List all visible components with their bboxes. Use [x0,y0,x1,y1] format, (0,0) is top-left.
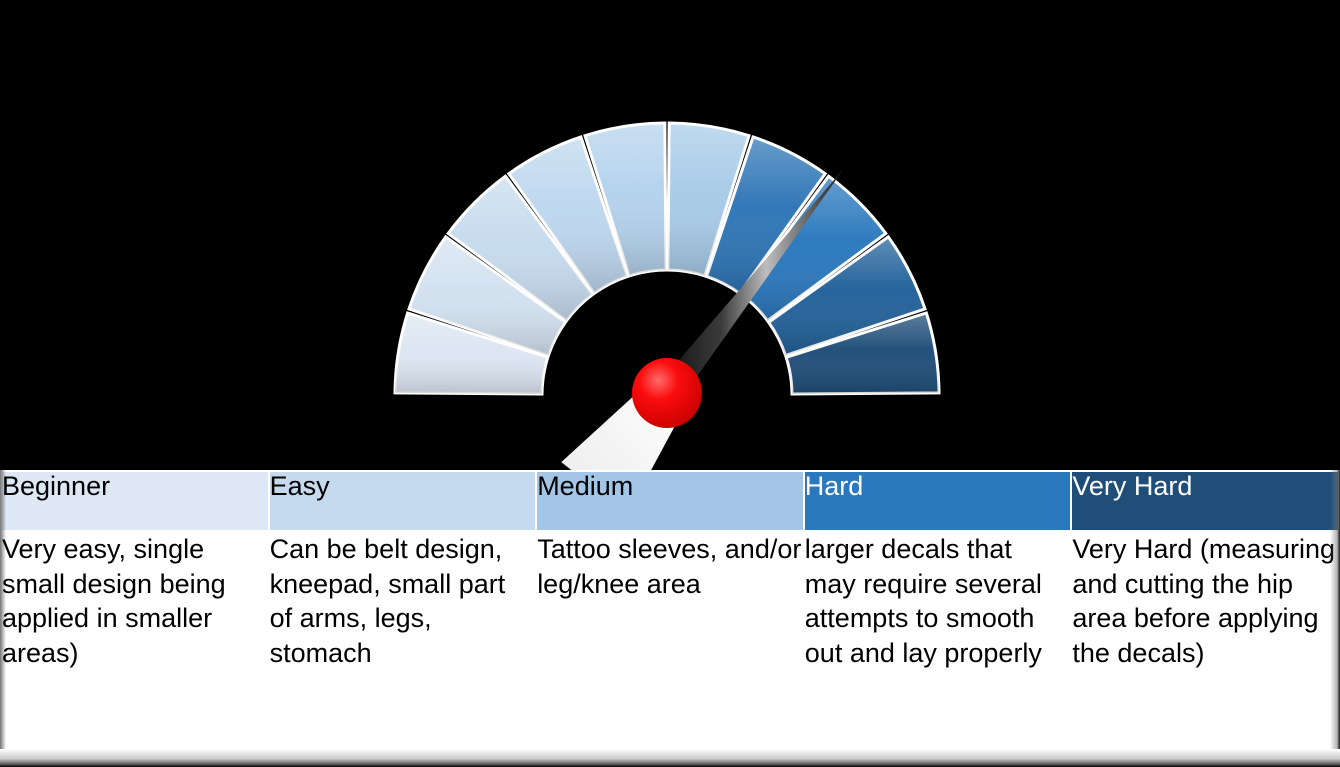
header-cell-beginner[interactable]: Beginner [1,471,269,531]
header-cell-very-hard[interactable]: Very Hard [1071,471,1339,531]
gauge-arc-segments [395,123,939,394]
cell-beginner-description[interactable]: Very easy, single small design being app… [1,531,269,766]
difficulty-gauge [0,0,1340,475]
cell-very-hard-description[interactable]: Very Hard (measuring and cutting the hip… [1071,531,1339,766]
header-cell-easy[interactable]: Easy [269,471,537,531]
cell-medium-description[interactable]: Tattoo sleeves, and/or leg/knee area [536,531,804,766]
table-header-row: Beginner Easy Medium Hard Very Hard [1,471,1339,531]
difficulty-legend-table: Beginner Easy Medium Hard Very Hard Very… [0,470,1340,767]
header-cell-medium[interactable]: Medium [536,471,804,531]
gauge-pivot-hub[interactable] [632,358,702,428]
cell-easy-description[interactable]: Can be belt design, kneepad, small part … [269,531,537,766]
header-cell-hard[interactable]: Hard [804,471,1072,531]
slide-canvas: Beginner Easy Medium Hard Very Hard Very… [0,0,1340,767]
table-row: Very easy, single small design being app… [1,531,1339,766]
gauge-svg [0,0,1340,475]
cell-hard-description[interactable]: larger decals that may require several a… [804,531,1072,766]
